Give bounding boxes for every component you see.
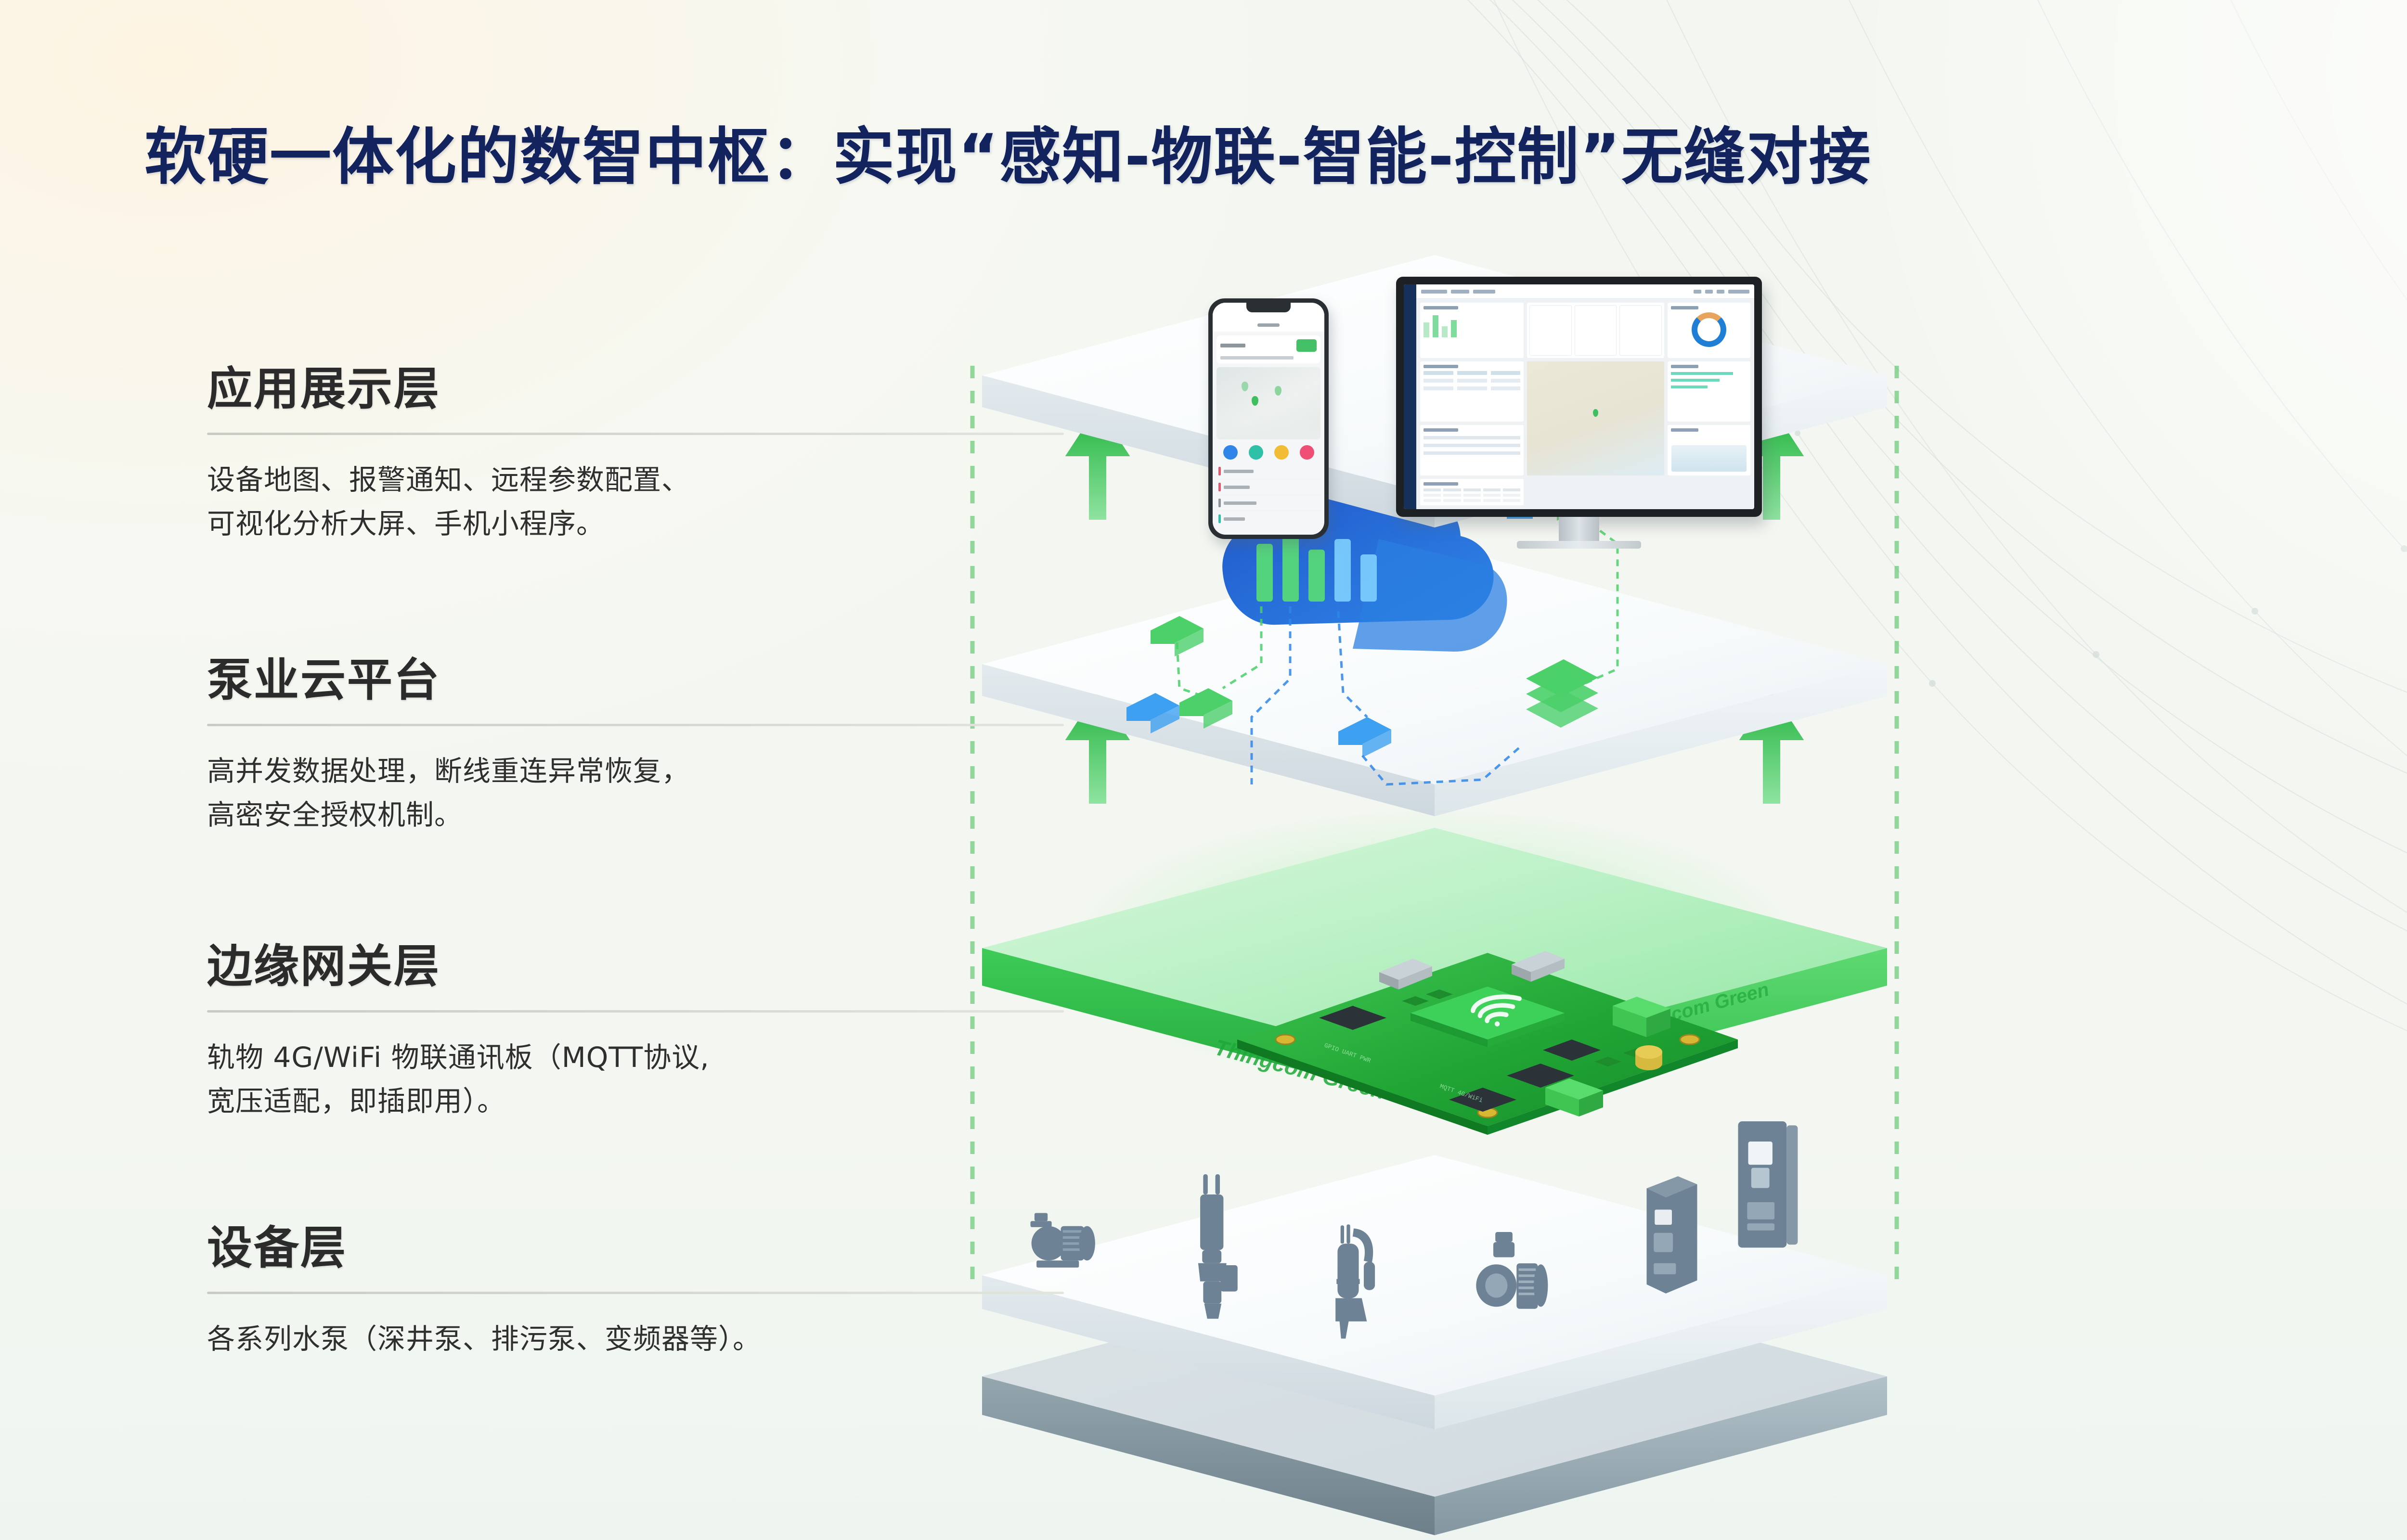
monitor-dashboard-mockup bbox=[1396, 277, 1762, 556]
layer-desc-line: 可视化分析大屏、手机小程序。 bbox=[207, 502, 1083, 546]
dashboard-kpi-row bbox=[1527, 303, 1664, 358]
dashboard-table-card bbox=[1420, 361, 1524, 422]
dashboard-area-chart-card bbox=[1668, 425, 1750, 475]
layer-divider bbox=[207, 433, 1064, 435]
page-title: 软硬一体化的数智中枢：实现“感知-物联-智能-控制”无缝对接 bbox=[144, 107, 1872, 196]
phone-app-mockup bbox=[1208, 298, 1329, 539]
phone-quick-actions bbox=[1217, 445, 1320, 460]
layer-title-cloud: 泵业云平台 bbox=[207, 657, 1083, 705]
layer-desc-application: 设备地图、报警通知、远程参数配置、 可视化分析大屏、手机小程序。 bbox=[207, 458, 1083, 546]
phone-map-view bbox=[1216, 367, 1320, 439]
layer-divider bbox=[207, 1010, 1064, 1013]
layer-desc-device: 各系列水泵（深井泵、排污泵、变频器等）。 bbox=[207, 1317, 1083, 1361]
phone-action-chip bbox=[1296, 339, 1317, 352]
dashboard-progress-card bbox=[1668, 361, 1750, 422]
layer-block-device: 设备层 各系列水泵（深井泵、排污泵、变频器等）。 bbox=[207, 1225, 1083, 1361]
layer-divider bbox=[207, 1292, 1064, 1294]
pcb-capacitor bbox=[1635, 1045, 1662, 1070]
layer-label-column: 应用展示层 设备地图、报警通知、远程参数配置、 可视化分析大屏、手机小程序。 泵… bbox=[0, 0, 1107, 1540]
layer-desc-edge: 轨物 4G/WiFi 物联通讯板（MQTT协议, 宽压适配，即插即用）。 bbox=[207, 1036, 1083, 1124]
monitor-stand bbox=[1396, 517, 1762, 556]
layer-desc-line: 宽压适配，即插即用）。 bbox=[207, 1079, 1083, 1124]
layer-desc-line: 轨物 4G/WiFi 物联通讯板（MQTT协议, bbox=[207, 1036, 1083, 1080]
dashboard-header bbox=[1416, 284, 1754, 299]
vfd-drive-small-icon bbox=[1647, 1176, 1697, 1294]
dashboard-map-card bbox=[1527, 361, 1664, 475]
layer-block-cloud: 泵业云平台 高并发数据处理，断线重连异常恢复， 高密安全授权机制。 bbox=[207, 657, 1083, 837]
layer-divider bbox=[207, 724, 1064, 726]
layer-block-edge: 边缘网关层 轨物 4G/WiFi 物联通讯板（MQTT协议, 宽压适配，即插即用… bbox=[207, 943, 1083, 1124]
layer-desc-line: 设备地图、报警通知、远程参数配置、 bbox=[207, 458, 1083, 502]
layer-desc-cloud: 高并发数据处理，断线重连异常恢复， 高密安全授权机制。 bbox=[207, 749, 1083, 837]
dashboard-sidebar bbox=[1404, 284, 1416, 509]
layer-desc-line: 高并发数据处理，断线重连异常恢复， bbox=[207, 749, 1083, 794]
dashboard-donut-card bbox=[1668, 303, 1750, 358]
layer-title-application: 应用展示层 bbox=[207, 366, 1083, 413]
green-iot-pcb-board: GPIO UART PWR MQTT 4G/WiFi bbox=[1213, 943, 1762, 1145]
layer-desc-line: 各系列水泵（深井泵、排污泵、变频器等）。 bbox=[207, 1317, 1083, 1361]
dashboard-list-card bbox=[1420, 425, 1524, 475]
layer-title-edge: 边缘网关层 bbox=[207, 943, 1083, 991]
layer-title-device: 设备层 bbox=[207, 1225, 1083, 1272]
layer-block-application: 应用展示层 设备地图、报警通知、远程参数配置、 可视化分析大屏、手机小程序。 bbox=[207, 366, 1083, 546]
phone-alarm-list bbox=[1216, 463, 1320, 526]
layer-desc-line: 高密安全授权机制。 bbox=[207, 793, 1083, 837]
dashboard-calendar-card bbox=[1420, 479, 1524, 505]
dashboard-chart-card bbox=[1420, 303, 1524, 358]
